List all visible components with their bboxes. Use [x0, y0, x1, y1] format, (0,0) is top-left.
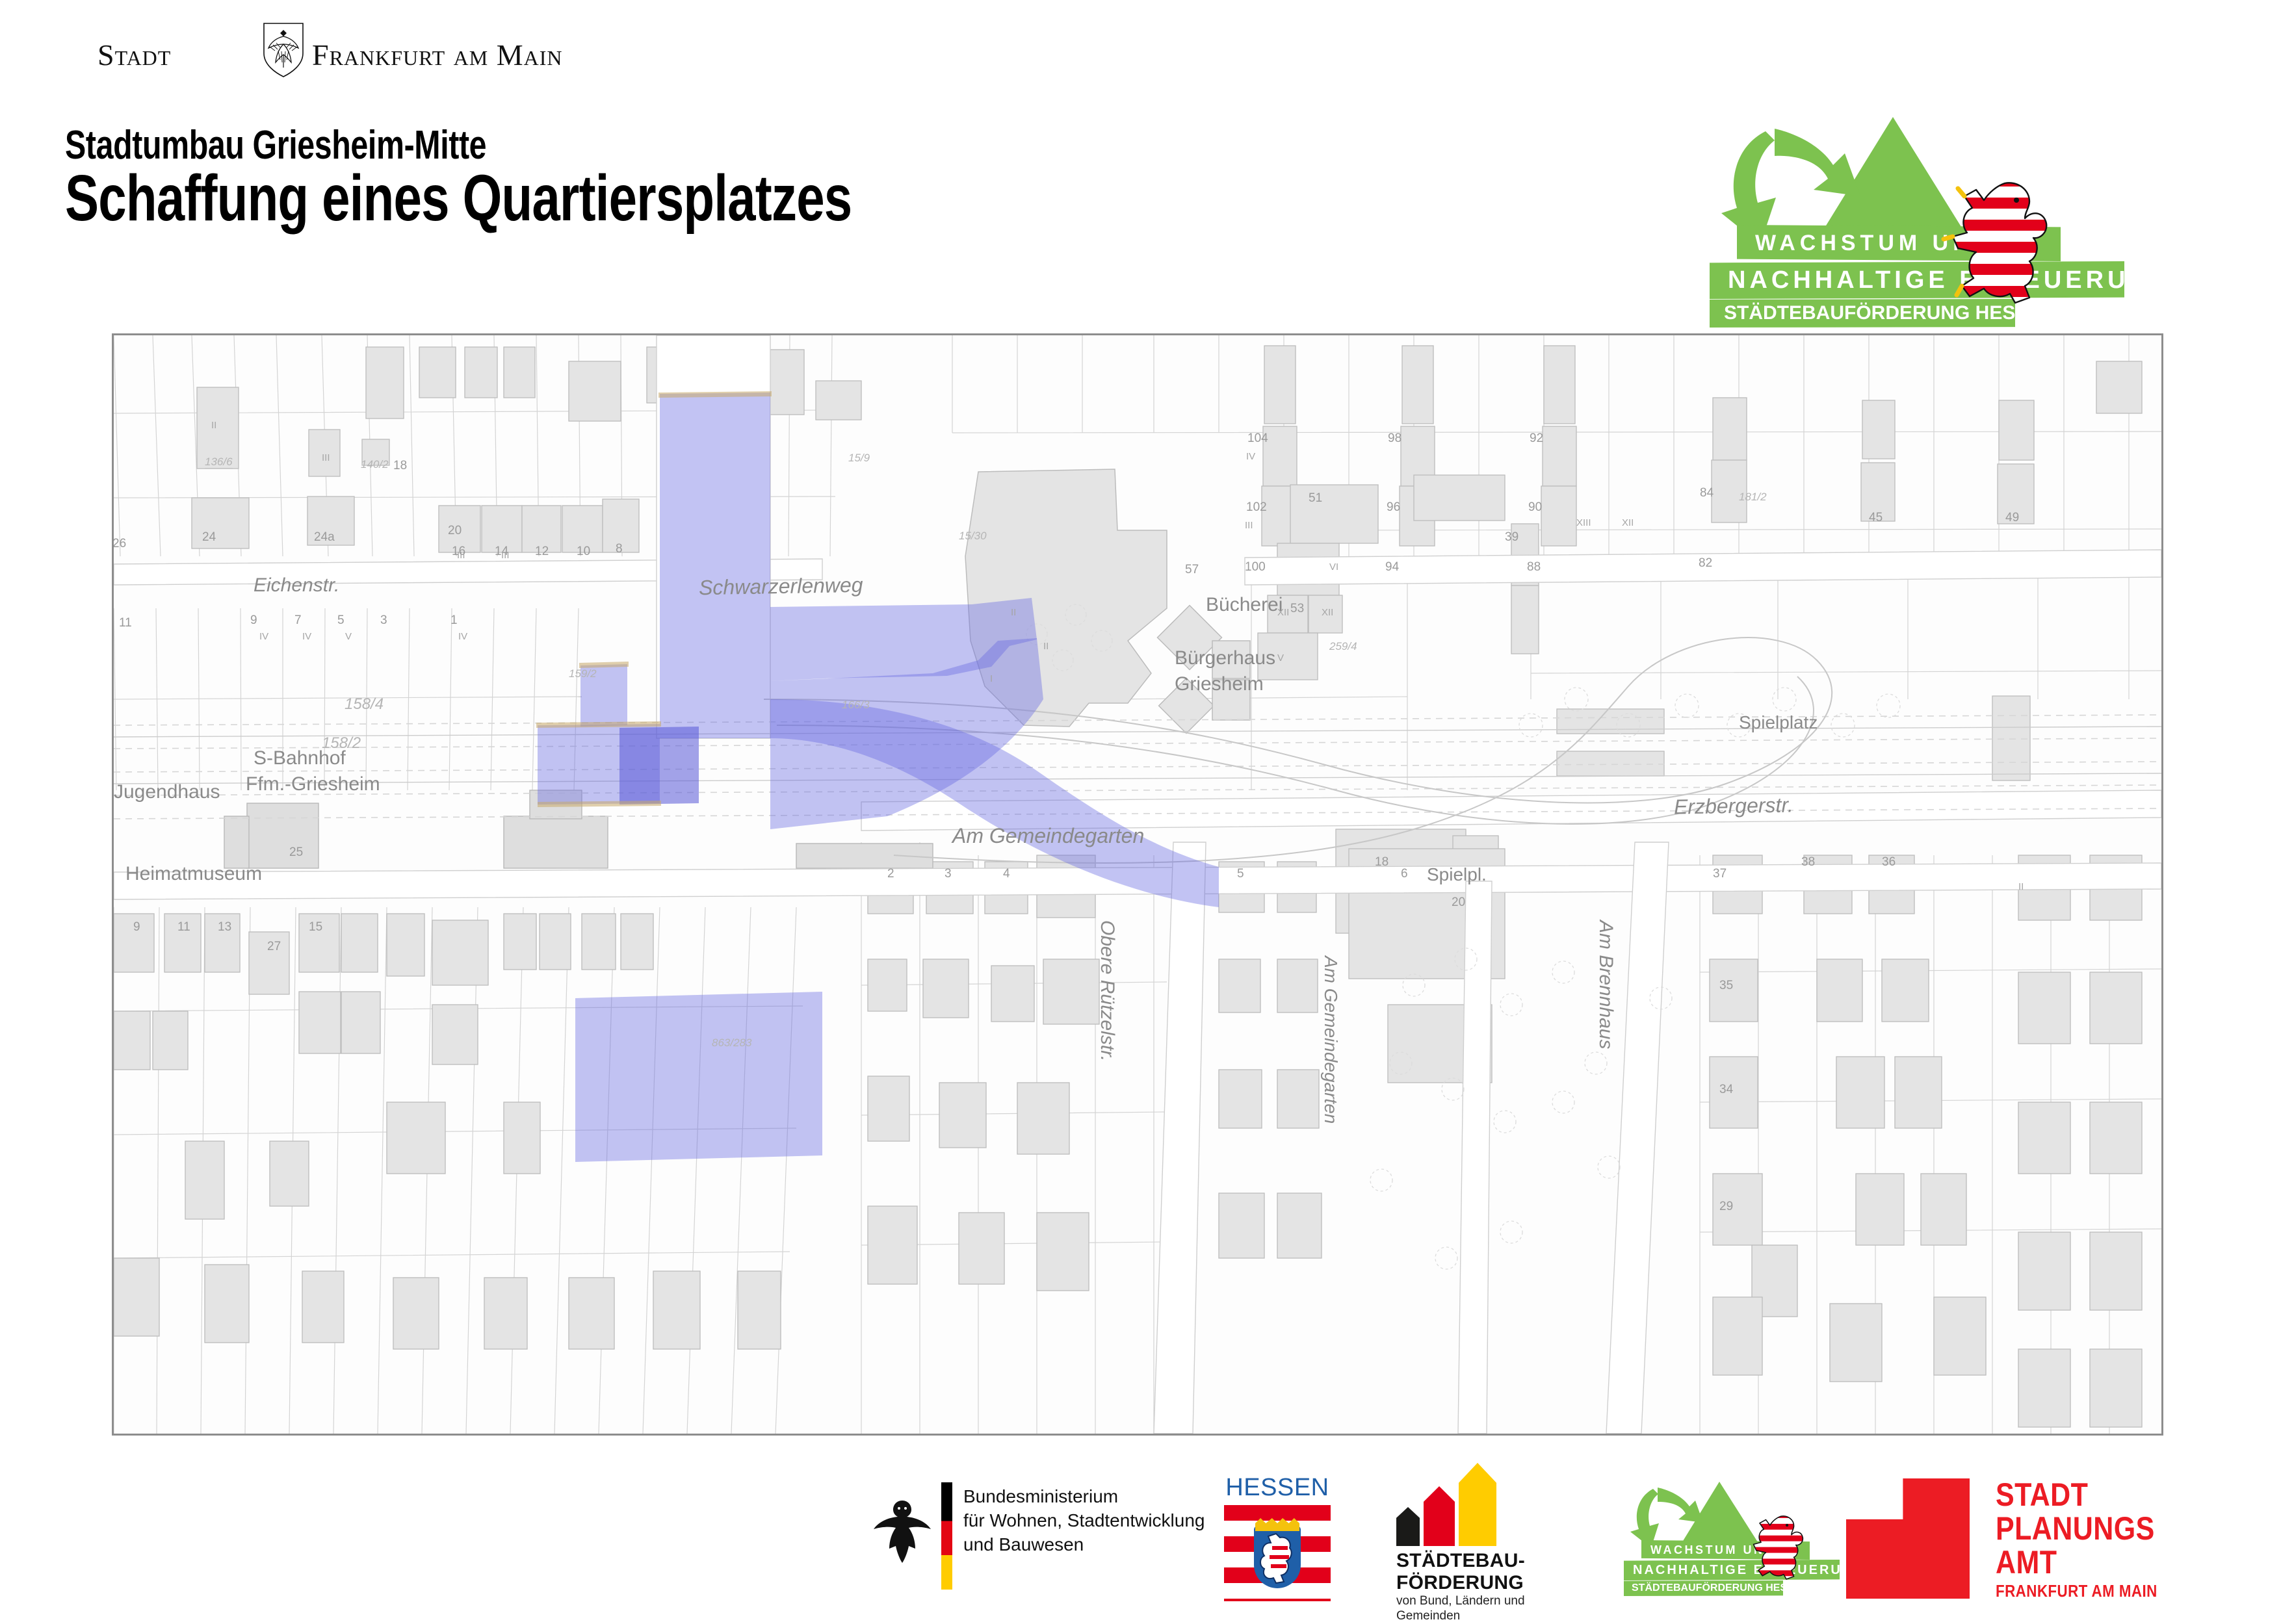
- poi-label-buecherei: Bücherei: [1206, 594, 1283, 616]
- house-number: 35: [1719, 979, 1733, 993]
- floor-marker: III: [322, 452, 330, 463]
- floor-marker: VI: [1329, 561, 1338, 573]
- house-number: 98: [1388, 432, 1401, 446]
- house-icon-black: [1396, 1507, 1420, 1546]
- house-number: 9: [250, 613, 257, 628]
- house-number: 1: [450, 613, 458, 628]
- bmwsb-logo: Bundesministerium für Wohnen, Stadtentwi…: [865, 1478, 1177, 1595]
- floor-marker: IV: [302, 631, 311, 642]
- floor-marker: XII: [1622, 517, 1634, 528]
- project-area-highlight: [114, 335, 2161, 1434]
- house-number: 94: [1385, 560, 1399, 574]
- house-icon-yellow: [1459, 1463, 1496, 1546]
- parcel-fraction: 259/4: [1329, 641, 1357, 652]
- street-label-eichenstr: Eichenstr.: [254, 574, 339, 597]
- frankfurt-eagle-icon: [262, 22, 305, 78]
- program-logo-small-line-2: NACHHALTIGE ERNEUERUNG: [1624, 1560, 1840, 1580]
- stfoe-line-2: FÖRDERUNG: [1396, 1572, 1524, 1594]
- street-label-am-gemeindegarten-2: Am Gemeindegarten: [1320, 956, 1341, 1124]
- stadtplanungsamt-logo: STADT PLANUNGS AMT FRANKFURT AM MAIN: [1846, 1478, 2210, 1602]
- stadtplanungsamt-line-2: PLANUNGS: [1996, 1510, 2155, 1547]
- poi-label-ffm-griesheim: Ffm.-Griesheim: [246, 773, 380, 795]
- hessen-lion-icon: [1938, 175, 2052, 315]
- house-number: 36: [1882, 855, 1896, 870]
- staedtebaufoerderung-logo: STÄDTEBAU- FÖRDERUNG von Bund, Ländern u…: [1391, 1478, 1612, 1602]
- hessen-lion-icon: [1746, 1512, 1806, 1586]
- house-number: 6: [1401, 867, 1408, 881]
- house-number: 5: [1237, 867, 1244, 881]
- house-number: 57: [1185, 563, 1199, 577]
- parcel-fraction: 136/6: [205, 456, 233, 469]
- floor-marker: III: [457, 550, 465, 561]
- recycle-arrow-tree-icon: [1698, 117, 1971, 286]
- house-number: 39: [1505, 530, 1518, 545]
- street-label-am-brennhaus: Am Brennhaus: [1595, 920, 1617, 1049]
- house-number: 25: [289, 845, 303, 860]
- floor-marker: IV: [259, 631, 268, 642]
- city-logo-text-2: Frankfurt am Main: [312, 38, 562, 72]
- house-icon-red: [1424, 1486, 1455, 1546]
- house-number: 100: [1245, 560, 1266, 574]
- house-number: 104: [1247, 432, 1268, 446]
- stfoe-subline: von Bund, Ländern und Gemeinden: [1396, 1593, 1525, 1624]
- poi-label-jugendhaus: Jugendhaus: [114, 781, 220, 803]
- parcel-fraction: 15/30: [959, 530, 987, 542]
- floor-marker: XII: [1277, 607, 1289, 618]
- street-label-obere-ruetzelstr: Obere Rützelstr.: [1096, 920, 1118, 1061]
- stadtplanungsamt-line-3: AMT: [1996, 1543, 2057, 1581]
- house-number: 7: [294, 613, 302, 628]
- floor-marker: II: [2018, 881, 2024, 892]
- floor-marker: XIII: [1576, 517, 1591, 528]
- stadtplanungsamt-line-1: STADT: [1996, 1476, 2088, 1514]
- house-number: 34: [1719, 1083, 1733, 1097]
- floor-marker: IV: [458, 631, 467, 642]
- bmwsb-text: Bundesministerium für Wohnen, Stadtentwi…: [963, 1485, 1205, 1557]
- spa-red-mark-icon: [1846, 1478, 1970, 1599]
- floor-marker: V: [1277, 652, 1284, 664]
- house-number: 45: [1869, 511, 1883, 525]
- parcel-fraction: 166/3: [842, 699, 870, 711]
- house-number: 82: [1699, 556, 1712, 571]
- hessen-logo: HESSEN: [1219, 1474, 1336, 1601]
- parcel-fraction: 159/2: [569, 668, 597, 680]
- parcel-fraction: 15/9: [848, 452, 870, 464]
- house-number: 88: [1527, 560, 1541, 574]
- house-number: 20: [1452, 896, 1465, 910]
- funding-logo-strip: Bundesministerium für Wohnen, Stadtentwi…: [0, 1462, 2281, 1612]
- house-number: 37: [1713, 867, 1727, 881]
- program-logo-line-2: NACHHALTIGE ERNEUERUNG: [1710, 261, 2124, 299]
- house-number: 27: [267, 940, 281, 954]
- parcel-fraction: 181/2: [1739, 491, 1767, 503]
- floor-marker: V: [345, 631, 352, 642]
- house-number: 24a: [314, 530, 335, 545]
- parcel-fraction: 158/4: [345, 696, 384, 712]
- house-number: 13: [218, 920, 231, 934]
- german-flag-bar: [941, 1482, 952, 1590]
- house-number: 4: [1003, 867, 1010, 881]
- stadtplanungsamt-line-4: FRANKFURT AM MAIN: [1996, 1581, 2157, 1601]
- house-number: 12: [535, 545, 549, 559]
- parcel-fraction: 140/2: [361, 459, 389, 470]
- city-logo-text-1: Stadt: [98, 38, 171, 72]
- house-number: 26: [112, 537, 126, 551]
- parcel-fraction: 863/283: [712, 1037, 751, 1049]
- map-canvas: Eichenstr. Schwarzerlenweg Bücherei Bürg…: [114, 335, 2161, 1434]
- program-logo-large: WACHSTUM UND NACHHALTIGE ERNEUERUNG STÄD…: [1698, 117, 2153, 325]
- floor-marker: II: [1043, 641, 1049, 652]
- house-number: 51: [1309, 491, 1322, 506]
- house-number: 84: [1700, 486, 1714, 500]
- bmwsb-line-1: Bundesministerium: [963, 1485, 1205, 1509]
- floor-marker: I: [990, 673, 993, 684]
- house-number: 15: [309, 920, 322, 934]
- stfoe-line-1: STÄDTEBAU-: [1396, 1550, 1525, 1572]
- floor-marker: III: [501, 550, 510, 561]
- federal-eagle-icon: [870, 1495, 935, 1567]
- poi-label-griesheim: Griesheim: [1175, 673, 1264, 695]
- parcel-fraction: 158/2: [322, 735, 361, 751]
- house-number: 2: [887, 867, 894, 881]
- poi-label-buergerhaus: Bürgerhaus: [1175, 647, 1275, 669]
- page-title: Schaffung eines Quartiersplatzes: [65, 161, 852, 236]
- floor-marker: IV: [1246, 451, 1255, 462]
- site-plan-map[interactable]: Eichenstr. Schwarzerlenweg Bücherei Bürg…: [112, 333, 2163, 1436]
- house-number: 11: [177, 920, 190, 934]
- house-number: 102: [1246, 500, 1267, 515]
- house-number: 90: [1528, 500, 1542, 515]
- house-number: 3: [945, 867, 952, 881]
- house-number: 92: [1530, 432, 1543, 446]
- house-number: 29: [1719, 1200, 1733, 1214]
- poi-label-heimatmuseum: Heimatmuseum: [125, 863, 262, 885]
- street-label-erzbergerstr: Erzbergerstr.: [1674, 793, 1793, 819]
- page-header: Stadt Frankfurt am Main Stadtumbau Gries…: [0, 0, 2281, 305]
- house-number: 96: [1387, 500, 1400, 515]
- floor-marker: XII: [1322, 607, 1333, 618]
- bmwsb-line-3: und Bauwesen: [963, 1533, 1205, 1557]
- house-number: 18: [393, 459, 407, 473]
- house-number: 5: [337, 613, 345, 628]
- poi-label-spielpl: Spielpl.: [1427, 864, 1487, 885]
- house-number: 3: [380, 613, 387, 628]
- house-number: 10: [577, 545, 590, 559]
- street-label-am-gemeindegarten: Am Gemeindegarten: [952, 824, 1144, 848]
- floor-marker: II: [211, 420, 216, 431]
- street-label-schwarzerlenweg: Schwarzerlenweg: [699, 573, 863, 600]
- city-logo: Stadt Frankfurt am Main: [98, 34, 514, 79]
- house-number: 11: [119, 616, 132, 630]
- floor-marker: III: [1245, 520, 1253, 531]
- house-number: 53: [1290, 602, 1304, 616]
- poi-label-spielplatz: Spielplatz: [1739, 712, 1818, 733]
- house-number: 9: [133, 920, 140, 934]
- hessen-shield-icon: [1254, 1526, 1301, 1588]
- house-number: 18: [1375, 855, 1388, 870]
- bmwsb-line-2: für Wohnen, Stadtentwicklung: [963, 1509, 1205, 1533]
- house-number: 8: [616, 542, 623, 556]
- floor-marker: II: [1011, 607, 1016, 618]
- house-number: 49: [2005, 511, 2019, 525]
- hessen-wordmark: HESSEN: [1219, 1474, 1336, 1502]
- house-number: 20: [448, 524, 462, 538]
- program-logo-small: WACHSTUM UND NACHHALTIGE ERNEUERUNG STÄD…: [1619, 1482, 1840, 1599]
- house-number: 38: [1801, 855, 1815, 870]
- house-number: 24: [202, 530, 216, 545]
